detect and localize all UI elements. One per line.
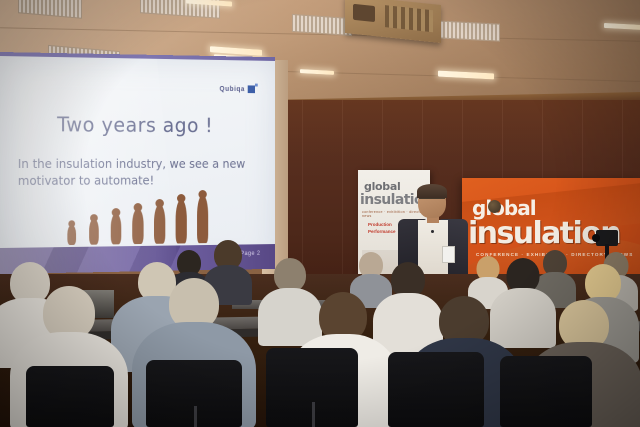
glasses-icon (419, 198, 445, 204)
chair (388, 352, 484, 427)
qubiqa-logo-icon (248, 85, 255, 93)
qubiqa-logo: Qubiqa (220, 85, 255, 93)
microphone-icon (431, 230, 434, 233)
ceiling-vent (436, 20, 500, 41)
chair (500, 356, 592, 427)
head (274, 258, 306, 292)
chair (26, 366, 114, 427)
speaker-hair (417, 184, 447, 198)
slide-title: Two years ago ! (57, 112, 213, 136)
banner-left-red-line-one: Production (368, 222, 392, 227)
chair-leg (194, 406, 197, 427)
globe-icon (488, 200, 501, 213)
evolution-graphic (61, 193, 213, 245)
banner-left-red-line-two: Performance (368, 229, 396, 234)
qubiqa-logo-text: Qubiqa (220, 85, 245, 92)
conference-room-photo: Qubiqa Two years ago ! In the insulation… (0, 0, 640, 427)
name-badge (442, 246, 455, 263)
slide-body-text: In the insulation industry, we see a new… (18, 156, 260, 191)
camera-lens-icon (592, 234, 600, 242)
chair-leg (312, 402, 315, 427)
